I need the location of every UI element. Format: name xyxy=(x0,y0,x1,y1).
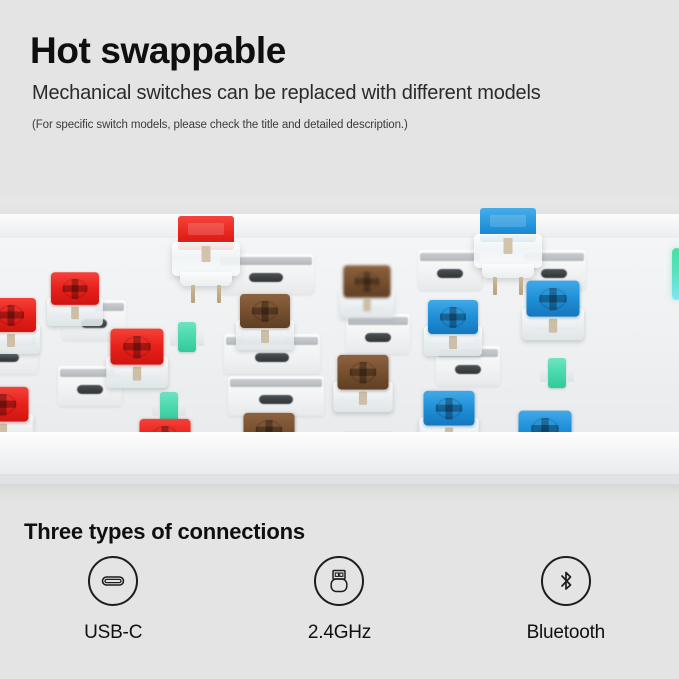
mechanical-switch xyxy=(417,391,480,434)
page-subtitle: Mechanical switches can be replaced with… xyxy=(32,81,659,105)
header-block: Hot swappable Mechanical switches can be… xyxy=(30,30,659,131)
disclaimer-note: (For specific switch models, please chec… xyxy=(32,119,659,131)
switch-stem xyxy=(0,298,36,332)
stem-cross xyxy=(539,295,567,302)
connections-row: USB-C 2.4GHz Bluetooth xyxy=(0,556,679,644)
stem-cross xyxy=(355,278,379,285)
empty-switch-socket xyxy=(418,250,482,290)
mechanical-switch xyxy=(0,387,35,434)
mechanical-switch xyxy=(234,294,296,350)
switch-stem xyxy=(0,387,29,422)
mechanical-switch xyxy=(0,298,42,354)
stabilizer-body xyxy=(178,322,196,352)
stabilizer-body xyxy=(548,358,566,388)
floating-switch xyxy=(172,216,240,304)
led-window xyxy=(249,273,283,282)
connection-24ghz: 2.4GHz xyxy=(226,556,452,644)
page-title: Hot swappable xyxy=(30,30,659,71)
stem-cross xyxy=(350,369,377,376)
stem-cross xyxy=(0,401,16,408)
stabilizer-arm xyxy=(179,402,186,416)
keyboard-front-lip xyxy=(0,432,679,484)
switch-stem xyxy=(111,329,164,365)
stabilizer-arm xyxy=(540,368,547,382)
stem-cross xyxy=(436,405,463,412)
switch-housing xyxy=(474,234,542,268)
switch-stem xyxy=(424,391,475,426)
mechanical-switch xyxy=(331,355,394,412)
switch-base xyxy=(180,272,232,286)
stem-cross xyxy=(440,314,466,321)
stabilizer-body xyxy=(160,392,178,422)
led-window xyxy=(77,385,103,394)
mechanical-switch xyxy=(422,300,484,356)
led-window xyxy=(259,395,293,404)
led-window xyxy=(365,333,391,342)
socket-rail xyxy=(348,317,408,325)
connection-label: 2.4GHz xyxy=(308,622,371,644)
switch-pin xyxy=(493,277,497,295)
mechanical-switch xyxy=(45,272,105,326)
switch-stem xyxy=(519,411,572,434)
floating-switch xyxy=(474,208,542,296)
socket-rail xyxy=(230,379,322,387)
stabilizer-arm xyxy=(197,332,204,346)
switch-stem xyxy=(344,265,391,297)
stabilizer-arm xyxy=(152,402,159,416)
accent-strip xyxy=(672,248,679,300)
connection-usb-c: USB-C xyxy=(0,556,226,644)
switch-stem xyxy=(244,413,295,434)
led-window xyxy=(255,353,289,362)
switch-stem xyxy=(428,300,478,334)
stem-cross xyxy=(63,285,88,292)
led-window xyxy=(455,365,481,374)
switch-stem xyxy=(51,272,99,305)
switch-pin xyxy=(191,285,195,303)
led-window xyxy=(437,269,463,278)
socket-rail xyxy=(420,253,480,261)
product-photo xyxy=(0,196,679,501)
stabilizer-stem xyxy=(540,356,574,390)
mechanical-switch xyxy=(338,265,396,318)
led-window xyxy=(541,269,567,278)
bluetooth-icon xyxy=(541,556,591,606)
stabilizer-arm xyxy=(567,368,574,382)
wireless-dongle-icon xyxy=(314,556,364,606)
switch-pin xyxy=(217,285,221,303)
switch-housing xyxy=(172,242,240,276)
connections-title: Three types of connections xyxy=(24,519,305,545)
stem-cross xyxy=(252,308,278,315)
switch-stem xyxy=(240,294,290,328)
empty-switch-socket xyxy=(346,314,410,354)
led-window xyxy=(0,353,19,362)
usb-c-icon xyxy=(88,556,138,606)
marketing-slide: Hot swappable Mechanical switches can be… xyxy=(0,0,679,679)
empty-switch-socket xyxy=(228,376,324,416)
connection-label: Bluetooth xyxy=(527,622,606,644)
connection-label: USB-C xyxy=(84,622,142,644)
switch-pin xyxy=(519,277,523,295)
mechanical-switch xyxy=(237,413,300,434)
stem-cross xyxy=(0,312,24,319)
mechanical-switch xyxy=(512,411,578,434)
switch-stem xyxy=(338,355,389,390)
connection-bluetooth: Bluetooth xyxy=(453,556,679,644)
keyboard-top-bezel xyxy=(0,214,679,240)
stem-cross xyxy=(123,343,151,350)
switch-base xyxy=(482,264,534,278)
stabilizer-stem xyxy=(170,320,204,354)
keyboard-case xyxy=(0,214,679,482)
mechanical-switch xyxy=(104,329,170,388)
stabilizer-arm xyxy=(170,332,177,346)
switch-plate xyxy=(0,238,679,434)
